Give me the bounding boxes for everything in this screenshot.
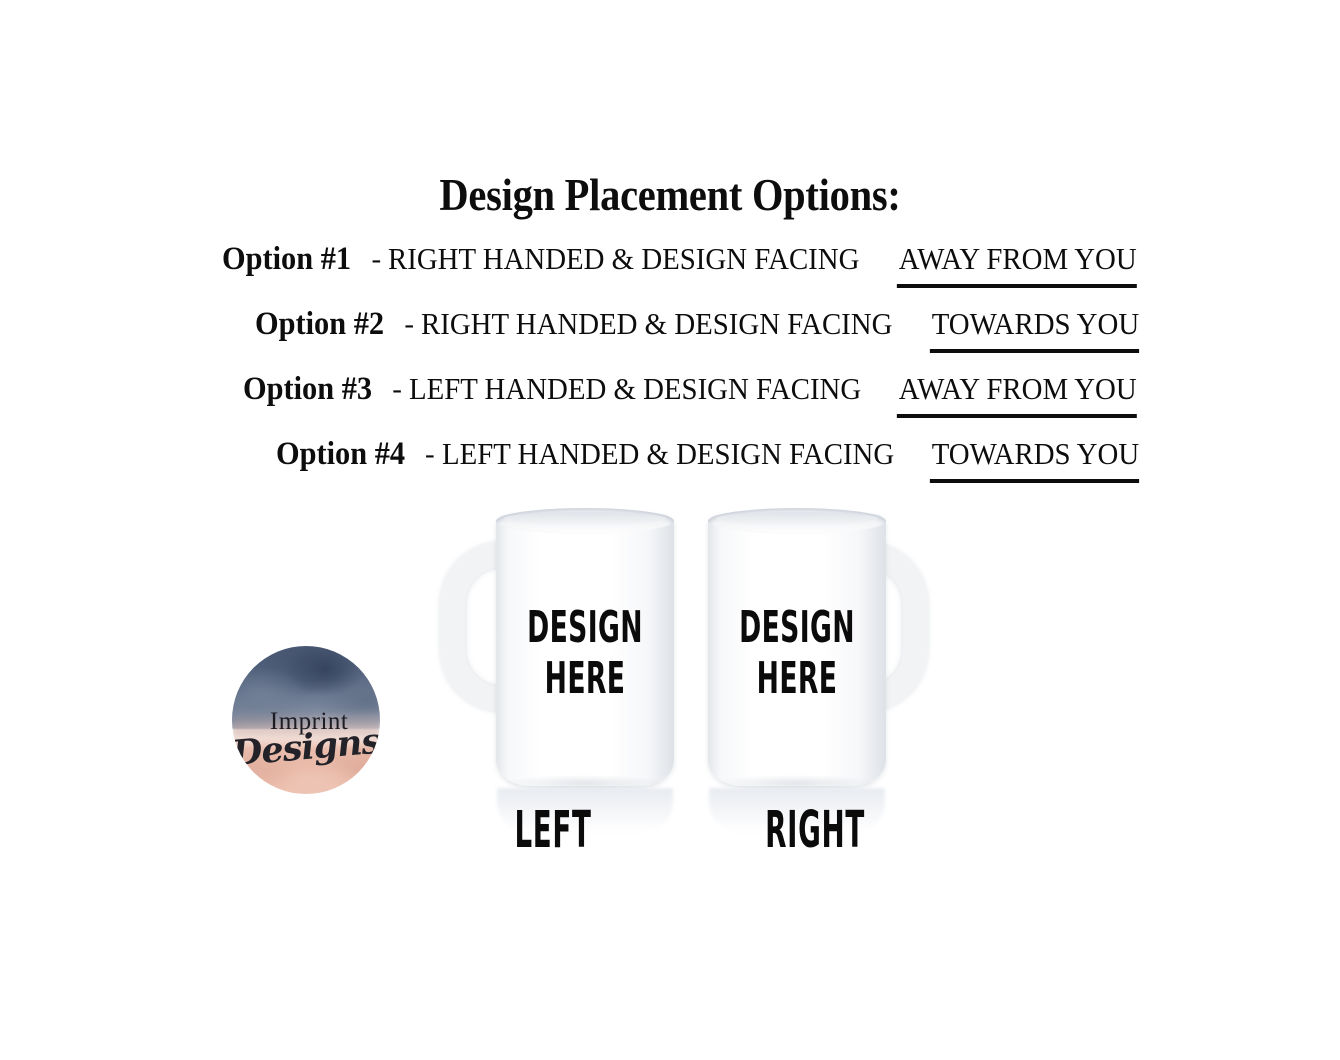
- option-emphasis: AWAY FROM YOU: [895, 370, 1137, 408]
- option-label: Option #4: [276, 435, 405, 473]
- option-row-3: Option #3 - LEFT HANDED & DESIGN FACING …: [0, 370, 1340, 435]
- option-dash: -: [416, 435, 442, 473]
- option-emphasis: TOWARDS YOU: [928, 305, 1139, 343]
- placement-options-graphic: Design Placement Options: Option #1 - RI…: [0, 0, 1340, 1060]
- option-label: Option #3: [243, 370, 372, 408]
- page-title: Design Placement Options:: [80, 168, 1259, 221]
- option-description: LEFT HANDED & DESIGN FACING: [442, 435, 894, 473]
- mug-design-line-1: DESIGN: [521, 602, 649, 653]
- option-emphasis: TOWARDS YOU: [928, 435, 1139, 473]
- mug-design-line-1: DESIGN: [733, 602, 861, 653]
- option-row-1: Option #1 - RIGHT HANDED & DESIGN FACING…: [0, 240, 1340, 305]
- option-description: LEFT HANDED & DESIGN FACING: [409, 370, 861, 408]
- mug-design-area: DESIGN HERE: [521, 602, 649, 703]
- mug-left: DESIGN HERE: [438, 508, 668, 808]
- mug-rim: [496, 508, 674, 534]
- mug-rim-inner: [716, 512, 878, 525]
- option-emphasis: AWAY FROM YOU: [895, 240, 1137, 278]
- option-label: Option #2: [255, 305, 384, 343]
- mug-design-area: DESIGN HERE: [733, 602, 861, 703]
- option-row-2: Option #2 - RIGHT HANDED & DESIGN FACING…: [0, 305, 1340, 370]
- option-list: Option #1 - RIGHT HANDED & DESIGN FACING…: [0, 240, 1340, 500]
- option-row-4: Option #4 - LEFT HANDED & DESIGN FACING …: [0, 435, 1340, 500]
- mug-design-line-2: HERE: [733, 653, 861, 704]
- mug-caption-left: LEFT: [477, 800, 629, 859]
- mug-design-line-2: HERE: [521, 653, 649, 704]
- option-dash: -: [363, 240, 389, 278]
- option-description: RIGHT HANDED & DESIGN FACING: [421, 305, 892, 343]
- mug-rim-inner: [504, 512, 666, 525]
- mug-caption-right: RIGHT: [739, 800, 891, 859]
- option-dash: -: [383, 370, 409, 408]
- option-label: Option #1: [222, 240, 351, 278]
- imprint-designs-logo: Imprint Designs: [232, 646, 380, 794]
- mug-rim: [708, 508, 886, 534]
- mug-right: DESIGN HERE: [700, 508, 930, 808]
- option-description: RIGHT HANDED & DESIGN FACING: [388, 240, 859, 278]
- option-dash: -: [395, 305, 421, 343]
